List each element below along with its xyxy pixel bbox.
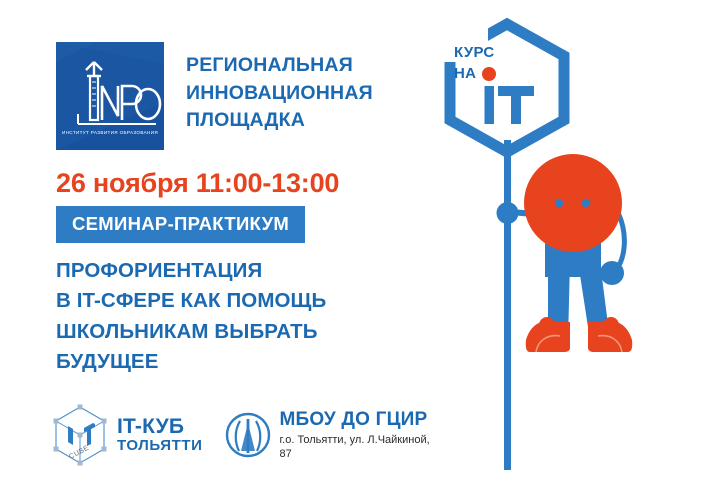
sign-pole — [497, 140, 519, 470]
page-title-line-3: ПЛОЩАДКА — [186, 107, 373, 135]
event-title-line-3: ШКОЛЬНИКАМ ВЫБРАТЬ — [56, 317, 326, 347]
sign-label: КУРС НА — [454, 42, 495, 85]
footer: CUBE IT-КУБ ТОЛЬЯТТИ — [52, 404, 430, 466]
page-title-line-1: РЕГИОНАЛЬНАЯ — [186, 52, 373, 80]
iro-logo-caption: ИНСТИТУТ РАЗВИТИЯ ОБРАЗОВАНИЯ — [62, 130, 158, 135]
sign-label-line-2: НА — [454, 63, 495, 84]
gcir-wordmark: МБОУ ДО ГЦИР г.о. Тольятти, ул. Л.Чайкин… — [280, 409, 430, 461]
event-format-badge: СЕМИНАР-ПРАКТИКУМ — [56, 206, 305, 243]
event-title-line-1: ПРОФОРИЕНТАЦИЯ — [56, 256, 326, 286]
itcube-branding: CUBE IT-КУБ ТОЛЬЯТТИ — [52, 404, 203, 466]
page-title-line-2: ИННОВАЦИОННАЯ — [186, 80, 373, 108]
it-cube-icon: CUBE — [52, 404, 108, 466]
character-right-shoe — [588, 317, 632, 352]
gcir-icon — [225, 409, 271, 461]
itcube-line-2: ТОЛЬЯТТИ — [117, 438, 203, 455]
content-column: ИНСТИТУТ РАЗВИТИЯ ОБРАЗОВАНИЯ РЕГИОНАЛЬН… — [0, 0, 430, 501]
iro-logo: ИНСТИТУТ РАЗВИТИЯ ОБРАЗОВАНИЯ — [56, 42, 164, 150]
event-title-line-4: БУДУЩЕЕ — [56, 347, 326, 377]
character-eye-left — [555, 199, 563, 207]
illustration: КУРС НА — [420, 0, 708, 501]
hexagon-sign — [436, 18, 564, 152]
character-head — [524, 154, 622, 252]
gcir-address: г.о. Тольятти, ул. Л.Чайкиной, 87 — [280, 433, 430, 462]
character-right-hand — [600, 261, 624, 285]
gcir-line-1: МБОУ ДО ГЦИР — [280, 409, 430, 431]
event-title-line-2: В IT-СФЕРЕ КАК ПОМОЩЬ — [56, 286, 326, 316]
itcube-line-1: IT-КУБ — [117, 415, 203, 439]
poster-canvas: ИНСТИТУТ РАЗВИТИЯ ОБРАЗОВАНИЯ РЕГИОНАЛЬН… — [0, 0, 708, 501]
gcir-branding: МБОУ ДО ГЦИР г.о. Тольятти, ул. Л.Чайкин… — [225, 409, 430, 461]
sign-label-line-1: КУРС — [454, 42, 495, 63]
event-datetime: 26 ноября 11:00-13:00 — [56, 168, 339, 199]
event-title: ПРОФОРИЕНТАЦИЯ В IT-СФЕРЕ КАК ПОМОЩЬ ШКО… — [56, 256, 326, 377]
header: ИНСТИТУТ РАЗВИТИЯ ОБРАЗОВАНИЯ РЕГИОНАЛЬН… — [56, 42, 373, 150]
character-eye-right — [582, 199, 590, 207]
character-left-shoe — [526, 317, 570, 352]
page-title: РЕГИОНАЛЬНАЯ ИННОВАЦИОННАЯ ПЛОЩАДКА — [186, 42, 373, 135]
itcube-wordmark: IT-КУБ ТОЛЬЯТТИ — [117, 415, 203, 455]
